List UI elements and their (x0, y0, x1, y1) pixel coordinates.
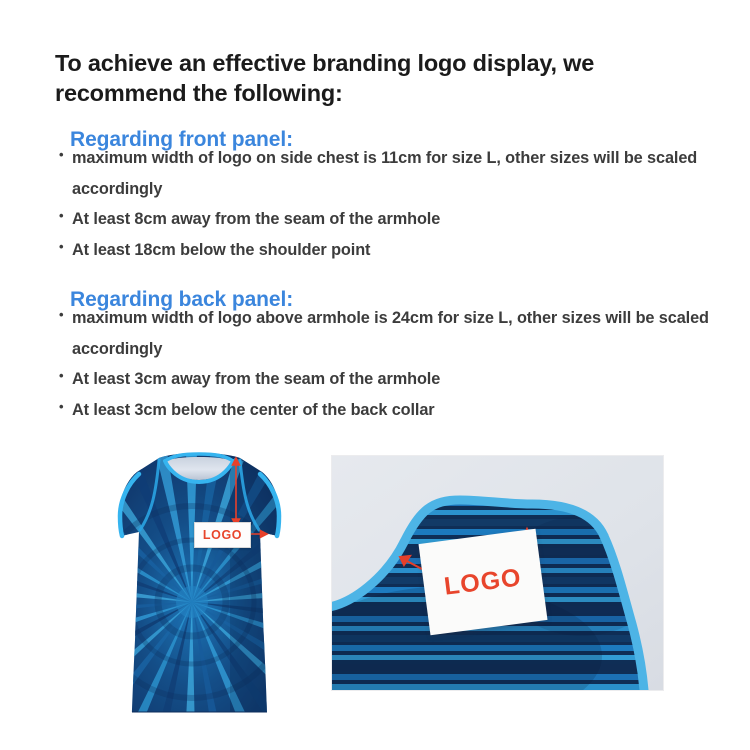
list-item: maximum width of logo on side chest is 1… (58, 143, 723, 204)
list-item: At least 8cm away from the seam of the a… (58, 204, 723, 235)
back-logo-placement-card: LOGO (419, 529, 548, 636)
list-item: At least 3cm below the center of the bac… (58, 395, 723, 426)
front-panel-bullet-list: maximum width of logo on side chest is 1… (58, 143, 723, 266)
figures-row: LOGO (0, 440, 750, 750)
list-item: At least 3cm away from the seam of the a… (58, 364, 723, 395)
logo-label: LOGO (443, 563, 524, 601)
list-item: maximum width of logo above armhole is 2… (58, 303, 723, 364)
back-panel-jersey-figure: LOGO (332, 456, 663, 690)
front-panel-jersey-figure: LOGO (112, 450, 287, 725)
tank-top-front-illustration (112, 450, 287, 725)
back-panel-bullet-list: maximum width of logo above armhole is 2… (58, 303, 723, 426)
list-item: At least 18cm below the shoulder point (58, 235, 723, 266)
front-logo-placement-card: LOGO (194, 522, 251, 548)
page-title: To achieve an effective branding logo di… (55, 48, 715, 108)
logo-label: LOGO (203, 528, 242, 542)
